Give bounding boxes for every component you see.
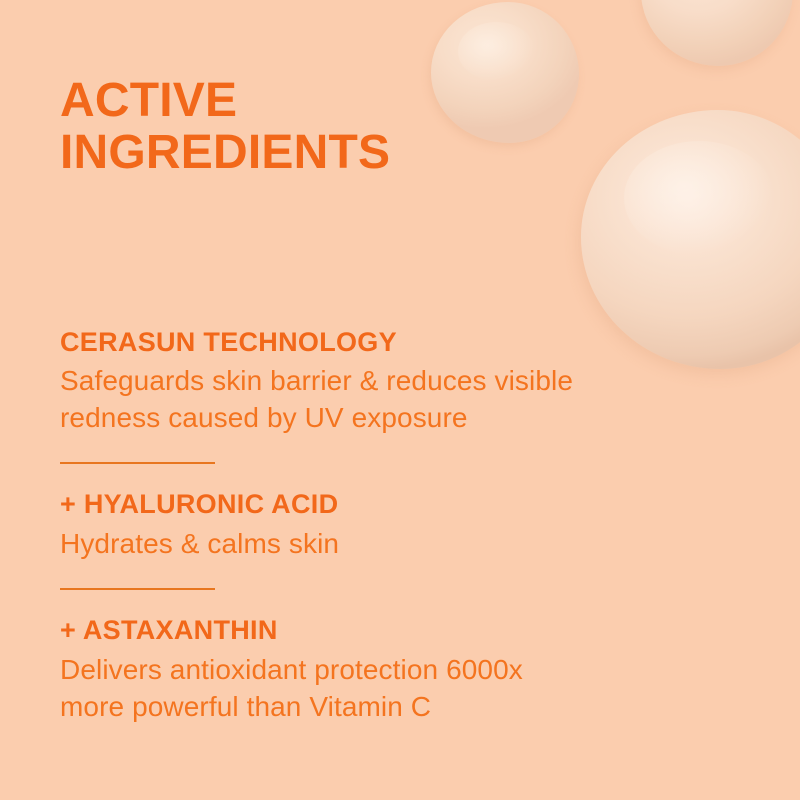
cream-droplet-small-icon <box>431 2 579 143</box>
page-title: ACTIVE INGREDIENTS <box>60 75 390 179</box>
ingredient-title-astaxanthin: + ASTAXANTHIN <box>60 614 720 646</box>
ingredient-description-cerasun: Safeguards skin barrier & reduces visibl… <box>60 362 720 436</box>
ingredient-list: CERASUN TECHNOLOGY Safeguards skin barri… <box>60 326 720 725</box>
section-divider-1 <box>60 462 215 464</box>
ingredient-description-hyaluronic-acid: Hydrates & calms skin <box>60 525 720 562</box>
ingredient-description-astaxanthin: Delivers antioxidant protection 6000x mo… <box>60 651 720 725</box>
ingredient-item-cerasun: CERASUN TECHNOLOGY Safeguards skin barri… <box>60 326 720 436</box>
ingredient-title-cerasun: CERASUN TECHNOLOGY <box>60 326 720 358</box>
section-divider-2 <box>60 588 215 590</box>
ingredient-item-astaxanthin: + ASTAXANTHIN Delivers antioxidant prote… <box>60 614 720 725</box>
active-ingredients-poster: ACTIVE INGREDIENTS CERASUN TECHNOLOGY Sa… <box>0 0 800 800</box>
cream-droplet-top-right-icon <box>641 0 793 66</box>
ingredient-item-hyaluronic-acid: + HYALURONIC ACID Hydrates & calms skin <box>60 488 720 562</box>
ingredient-title-hyaluronic-acid: + HYALURONIC ACID <box>60 488 720 520</box>
